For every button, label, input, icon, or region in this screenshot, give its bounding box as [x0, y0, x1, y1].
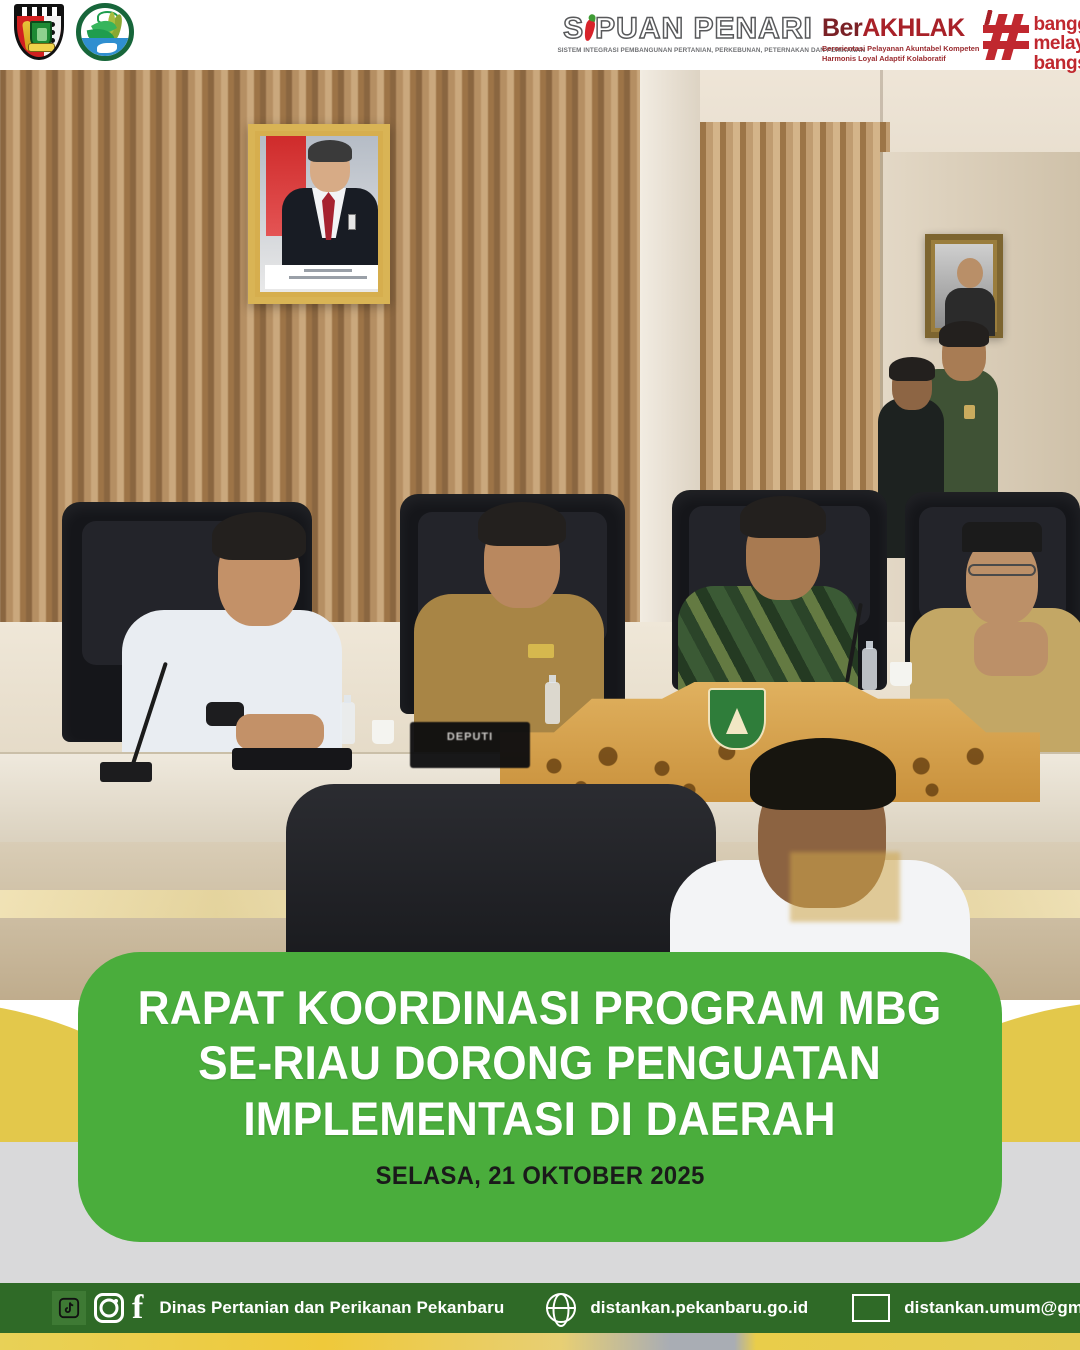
header-band: SPUAN PENARI SISTEM INTEGRASI PEMBANGUNA…: [0, 0, 1080, 70]
bangga-melayani-bangsa-slogan: bangga melayani bangsa: [1033, 12, 1080, 73]
poster-canvas: DEPUTI RAPAT KOORDINASI PROGRAM MBG SE-R…: [0, 0, 1080, 1350]
header-logos: [8, 2, 134, 62]
glasses: [968, 564, 1036, 576]
nameplate-deputi: DEPUTI: [410, 722, 530, 768]
email-text: distankan.umum@gmail.com: [904, 1298, 1080, 1318]
berakhlak-logo: BerAKHLAK Berorientasi Pelayanan Akuntab…: [822, 12, 1080, 73]
headline-line-3: IMPLEMENTASI DI DAERAH: [138, 1091, 942, 1146]
peci-cap: [962, 522, 1042, 552]
water-bottle-3: [862, 648, 877, 690]
website-group[interactable]: distankan.pekanbaru.go.id: [546, 1293, 808, 1323]
footer-bar: f Dinas Pertanian dan Perikanan Pekanbar…: [0, 1283, 1080, 1333]
sipuan-penari-logo: SPUAN PENARI SISTEM INTEGRASI PEMBANGUNA…: [560, 14, 816, 54]
bottom-accent-strip: [0, 1333, 1080, 1350]
facebook-icon[interactable]: f: [132, 1294, 143, 1322]
globe-icon: [546, 1293, 576, 1323]
cup-2: [890, 662, 912, 686]
headline-text: RAPAT KOORDINASI PROGRAM MBG SE-RIAU DOR…: [138, 980, 942, 1146]
pekanbaru-crest-icon: [8, 2, 70, 62]
event-date: SELASA, 21 OKTOBER 2025: [375, 1162, 704, 1191]
berakhlak-wordmark: BerAKHLAK: [822, 16, 979, 41]
headline-card: RAPAT KOORDINASI PROGRAM MBG SE-RIAU DOR…: [78, 952, 1002, 1242]
meeting-photo: DEPUTI: [0, 62, 1080, 1062]
water-bottle-1: [340, 702, 355, 744]
mail-icon: [852, 1294, 890, 1322]
instagram-icon[interactable]: [94, 1293, 124, 1323]
tiktok-icon[interactable]: [52, 1291, 86, 1325]
president-portrait-frame: [248, 124, 390, 304]
social-group: f Dinas Pertanian dan Perikanan Pekanbar…: [52, 1291, 504, 1325]
sipuan-subtitle: SISTEM INTEGRASI PEMBANGUNAN PERTANIAN, …: [557, 47, 818, 54]
water-bottle-2: [545, 682, 560, 724]
blurred-signage: [790, 852, 900, 922]
cup-1: [372, 720, 394, 744]
social-handle-text: Dinas Pertanian dan Perikanan Pekanbaru: [159, 1298, 504, 1318]
hashtag-icon: [983, 14, 1029, 60]
headline-line-2: SE-RIAU DORONG PENGUATAN: [138, 1035, 942, 1090]
riau-emblem: [708, 688, 766, 750]
website-text: distankan.pekanbaru.go.id: [590, 1298, 808, 1318]
desk-console-1: [232, 748, 352, 770]
sipuan-wordmark: SPUAN PENARI: [563, 14, 813, 44]
headline-line-1: RAPAT KOORDINASI PROGRAM MBG: [138, 980, 942, 1035]
dinas-logo-icon: [76, 3, 134, 61]
microphone-base-1: [100, 762, 152, 782]
berakhlak-tagline: Berorientasi Pelayanan Akuntabel Kompete…: [822, 44, 979, 64]
email-group[interactable]: distankan.umum@gmail.com: [852, 1294, 1080, 1322]
